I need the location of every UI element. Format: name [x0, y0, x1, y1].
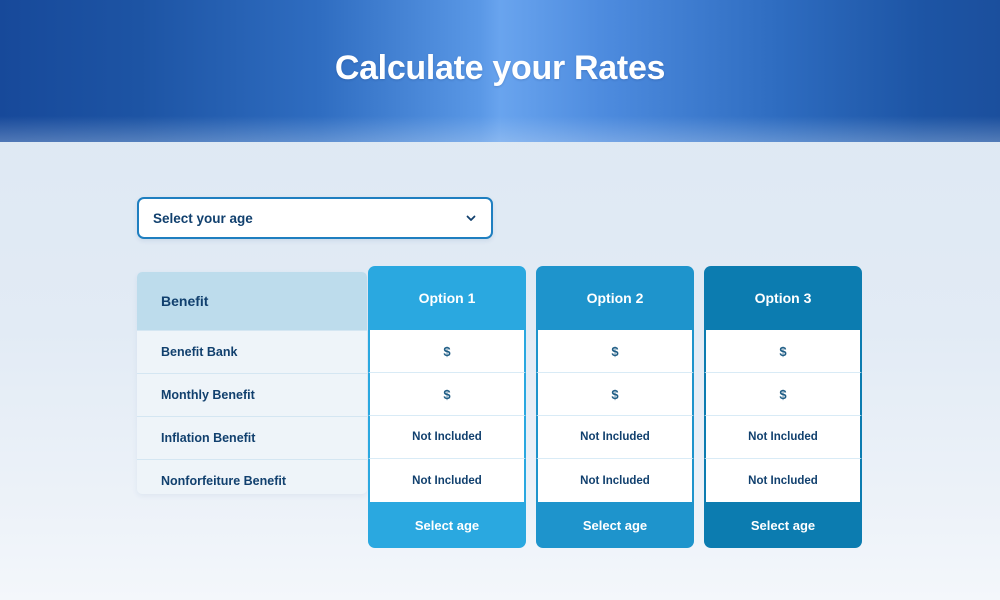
option-3-cell-benefit-bank: $	[704, 330, 862, 373]
benefit-column-header-label: Benefit	[161, 293, 208, 309]
table-row: Monthly Benefit	[137, 373, 367, 416]
page-title: Calculate your Rates	[0, 49, 1000, 88]
option-2-cell-inflation-benefit: Not Included	[536, 416, 694, 459]
option-2-cell-benefit-bank: $	[536, 330, 694, 373]
page-root: Calculate your Rates Select your age Ben…	[0, 0, 1000, 600]
rates-comparison-table: Benefit Benefit Bank Monthly Benefit Inf…	[137, 272, 861, 494]
option-3-cell-inflation-benefit: Not Included	[704, 416, 862, 459]
benefit-label-column: Benefit Benefit Bank Monthly Benefit Inf…	[137, 272, 367, 494]
option-column-2: Option 2 $ $ Not Included Not Included S…	[536, 266, 694, 548]
option-2-cell-monthly-benefit: $	[536, 373, 694, 416]
benefit-row-label: Monthly Benefit	[161, 388, 255, 402]
chevron-down-icon	[465, 212, 477, 224]
option-1-header: Option 1	[368, 266, 526, 330]
benefit-column-header: Benefit	[137, 272, 367, 330]
table-row: Inflation Benefit	[137, 416, 367, 459]
option-1-cell-monthly-benefit: $	[368, 373, 526, 416]
option-2-select-age-button[interactable]: Select age	[536, 502, 694, 548]
page-header-banner: Calculate your Rates	[0, 0, 1000, 142]
option-2-cell-nonforfeiture-benefit: Not Included	[536, 459, 694, 502]
table-row: Nonforfeiture Benefit	[137, 459, 367, 494]
option-1-cell-benefit-bank: $	[368, 330, 526, 373]
option-3-select-age-button[interactable]: Select age	[704, 502, 862, 548]
option-1-cell-nonforfeiture-benefit: Not Included	[368, 459, 526, 502]
benefit-row-label: Benefit Bank	[161, 345, 237, 359]
option-column-3: Option 3 $ $ Not Included Not Included S…	[704, 266, 862, 548]
age-select-label: Select your age	[153, 211, 465, 226]
option-1-select-age-button[interactable]: Select age	[368, 502, 526, 548]
age-select-dropdown[interactable]: Select your age	[137, 197, 493, 239]
option-1-cell-inflation-benefit: Not Included	[368, 416, 526, 459]
benefit-row-label: Inflation Benefit	[161, 431, 255, 445]
table-row: Benefit Bank	[137, 330, 367, 373]
option-2-header: Option 2	[536, 266, 694, 330]
option-column-1: Option 1 $ $ Not Included Not Included S…	[368, 266, 526, 548]
option-3-cell-monthly-benefit: $	[704, 373, 862, 416]
option-3-cell-nonforfeiture-benefit: Not Included	[704, 459, 862, 502]
option-3-header: Option 3	[704, 266, 862, 330]
benefit-row-label: Nonforfeiture Benefit	[161, 474, 286, 488]
